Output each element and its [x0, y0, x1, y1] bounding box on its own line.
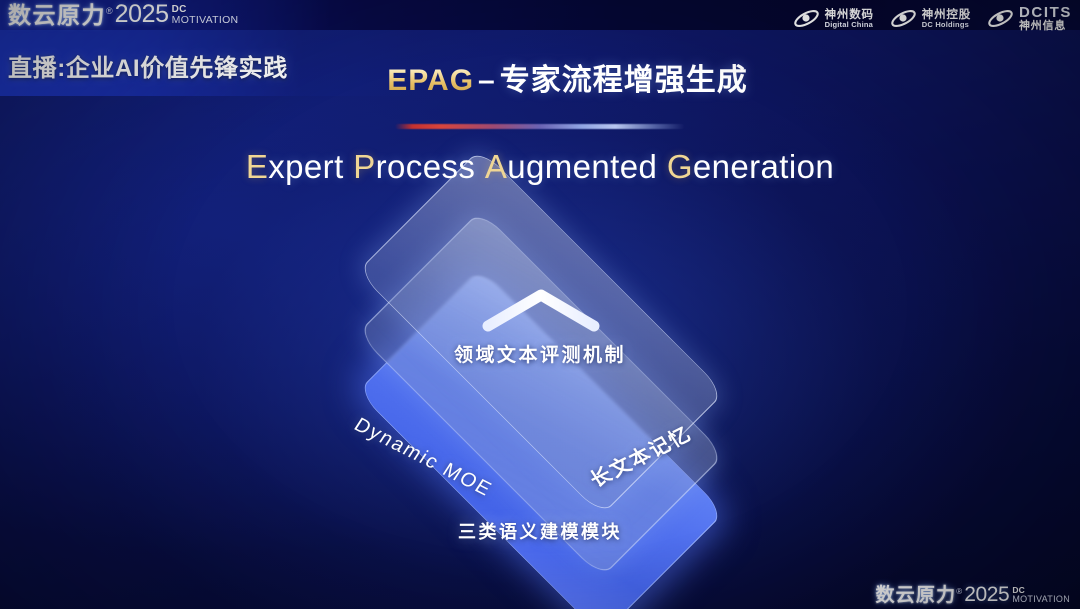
corporate-logo-dc-holdings: 神州控股 DC Holdings: [890, 7, 971, 30]
corporate-logo-en: DCITS: [1019, 5, 1072, 21]
diagram-label-top: 领域文本评测机制: [288, 340, 792, 367]
corporate-logo-cn: 神州数码: [825, 9, 874, 21]
corporate-logo-en: DC Holdings: [922, 21, 971, 29]
diagram-label-bottom: 三类语义建模模块: [288, 518, 792, 544]
page-title-dash: –: [474, 64, 500, 97]
watermark-logo-motivation: MOTIVATION: [1012, 595, 1070, 604]
slide-root: 数云原力® 2025 DC MOTIVATION 直播:企业AI价值先锋实践 神…: [0, 0, 1080, 609]
swirl-icon: [793, 7, 820, 30]
chevron-up-icon: [480, 286, 602, 334]
brand-logo-registered: ®: [106, 6, 113, 16]
subtitle-rest-3: ugmented: [507, 148, 657, 185]
subtitle-rest-2: rocess: [376, 148, 476, 185]
corporate-logo-text: 神州数码 Digital China: [825, 9, 874, 29]
subtitle-rest-1: xpert: [268, 148, 343, 185]
watermark-logo-registered: ®: [956, 587, 962, 596]
watermark-logo-sublabel: DC MOTIVATION: [1012, 586, 1070, 604]
corporate-logo-text: DCITS 神州信息: [1019, 5, 1072, 32]
corporate-logo-cn: 神州控股: [922, 9, 971, 21]
corporate-logo-text: 神州控股 DC Holdings: [922, 9, 971, 29]
watermark-logo: 数云原力® 2025 DC MOTIVATION: [875, 584, 1070, 605]
gradient-divider: [395, 124, 685, 129]
brand-logo: 数云原力® 2025 DC MOTIVATION: [8, 2, 238, 27]
brand-logo-year: 2025: [115, 2, 169, 27]
page-title-chinese: 专家流程增强生成: [500, 64, 748, 97]
corporate-logo-group: 神州数码 Digital China 神州控股 DC Holdings: [793, 5, 1072, 32]
corporate-logo-digital-china: 神州数码 Digital China: [793, 7, 874, 30]
brand-logo-sublabel: DC MOTIVATION: [172, 5, 239, 26]
page-subtitle: Expert Process Augmented Generation: [0, 148, 1080, 186]
subtitle-cap-2: P: [353, 148, 375, 185]
layered-architecture-diagram: 三类语义建模模块 Dynamic MOE 长文本记忆 领域文本评测机制: [288, 228, 792, 568]
watermark-logo-year: 2025: [964, 584, 1009, 605]
corporate-logo-cn: 神州信息: [1019, 21, 1072, 33]
subtitle-rest-4: eneration: [693, 148, 834, 185]
brand-logo-cn: 数云原力: [8, 4, 106, 27]
watermark-logo-cn: 数云原力: [875, 586, 956, 605]
page-title-acronym: EPAG: [387, 64, 474, 97]
swirl-icon: [890, 7, 917, 30]
subtitle-cap-3: A: [485, 148, 507, 185]
subtitle-cap-1: E: [246, 148, 268, 185]
corporate-logo-en: Digital China: [825, 21, 874, 29]
brand-logo-motivation: MOTIVATION: [172, 15, 239, 26]
subtitle-cap-4: G: [667, 148, 693, 185]
corporate-logo-dcits: DCITS 神州信息: [987, 5, 1072, 32]
swirl-icon: [987, 7, 1014, 30]
live-session-label: 直播:企业AI价值先锋实践: [8, 48, 288, 83]
